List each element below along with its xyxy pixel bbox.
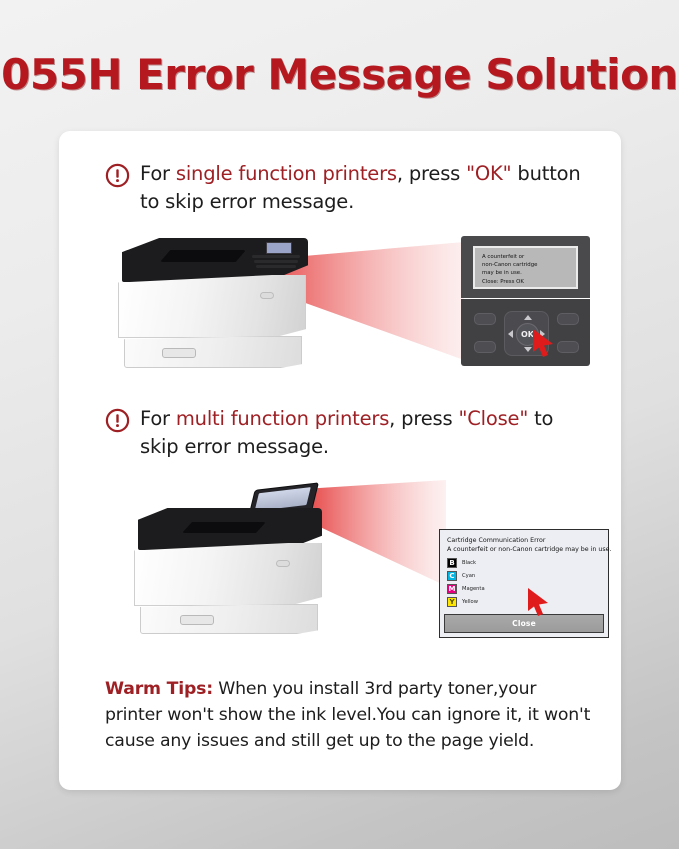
step-1-highlight: single function printers (176, 162, 397, 185)
panel-button-top-right[interactable] (557, 313, 579, 325)
dialog-subtitle: A counterfeit or non-Canon cartridge may… (447, 545, 601, 554)
cursor-arrow-icon (526, 586, 552, 616)
exclamation-circle-icon (105, 163, 130, 188)
exclamation-circle-icon (105, 408, 130, 433)
close-button[interactable]: Close (444, 614, 604, 633)
ink-label-magenta: Magenta (462, 586, 485, 592)
lcd-line-1: A counterfeit or (482, 253, 576, 261)
panel-button-bottom-left[interactable] (474, 341, 496, 353)
ink-label-black: Black (462, 560, 476, 566)
step-1-prefix: For (140, 162, 176, 185)
panel-head: A counterfeit or non-Canon cartridge may… (461, 236, 590, 298)
panel-keypad: OK (461, 299, 590, 366)
step-1-middle: , press (397, 162, 466, 185)
step-2-highlight: multi function printers (176, 407, 389, 430)
ink-chip-cyan: C (447, 571, 457, 581)
ink-row-black: B Black (447, 558, 601, 568)
step-1-quoted: "OK" (466, 162, 511, 185)
step-2-text: For multi function printers, press "Clos… (140, 405, 595, 461)
step-single-function: For single function printers, press "OK"… (105, 160, 595, 216)
panel-button-top-left[interactable] (474, 313, 496, 325)
cursor-arrow-icon (531, 327, 557, 357)
lcd-line-2: non-Canon cartridge (482, 261, 576, 269)
lcd-line-3: may be in use. (482, 269, 576, 277)
warm-tips-colon: : (206, 679, 213, 699)
page-title: 055H Error Message Solution (0, 50, 679, 99)
panel-button-bottom-right[interactable] (557, 341, 579, 353)
step-1-text: For single function printers, press "OK"… (140, 160, 595, 216)
dialog-title: Cartridge Communication Error (447, 536, 601, 545)
ink-row-cyan: C Cyan (447, 571, 601, 581)
step-multi-function: For multi function printers, press "Clos… (105, 405, 595, 461)
step-2-quoted: "Close" (458, 407, 528, 430)
printer-single-function (114, 236, 319, 378)
illustration-single-function: A counterfeit or non-Canon cartridge may… (114, 236, 604, 381)
printer-multi-function (134, 486, 334, 626)
ink-label-cyan: Cyan (462, 573, 475, 579)
lcd-line-4: Close: Press OK (482, 278, 576, 286)
warm-tips: Warm Tips: When you install 3rd party to… (105, 676, 595, 754)
dialog-footer: Close (440, 611, 608, 637)
ink-chip-yellow: Y (447, 597, 457, 607)
content-card: For single function printers, press "OK"… (59, 131, 621, 790)
ink-chip-black: B (447, 558, 457, 568)
warm-tips-label: Warm Tips (105, 679, 206, 699)
step-2-middle: , press (389, 407, 458, 430)
arrow-left-icon[interactable] (508, 330, 513, 338)
ink-chip-magenta: M (447, 584, 457, 594)
illustration-multi-function: Cartridge Communication Error A counterf… (134, 476, 604, 631)
lcd-screen: A counterfeit or non-Canon cartridge may… (473, 246, 578, 289)
arrow-up-icon[interactable] (524, 315, 532, 320)
ink-label-yellow: Yellow (462, 599, 478, 605)
ink-row-yellow: Y Yellow (447, 597, 601, 607)
cartridge-error-dialog: Cartridge Communication Error A counterf… (439, 529, 609, 638)
ink-row-magenta: M Magenta (447, 584, 601, 594)
printer-control-panel-zoom: A counterfeit or non-Canon cartridge may… (461, 236, 590, 366)
step-2-prefix: For (140, 407, 176, 430)
